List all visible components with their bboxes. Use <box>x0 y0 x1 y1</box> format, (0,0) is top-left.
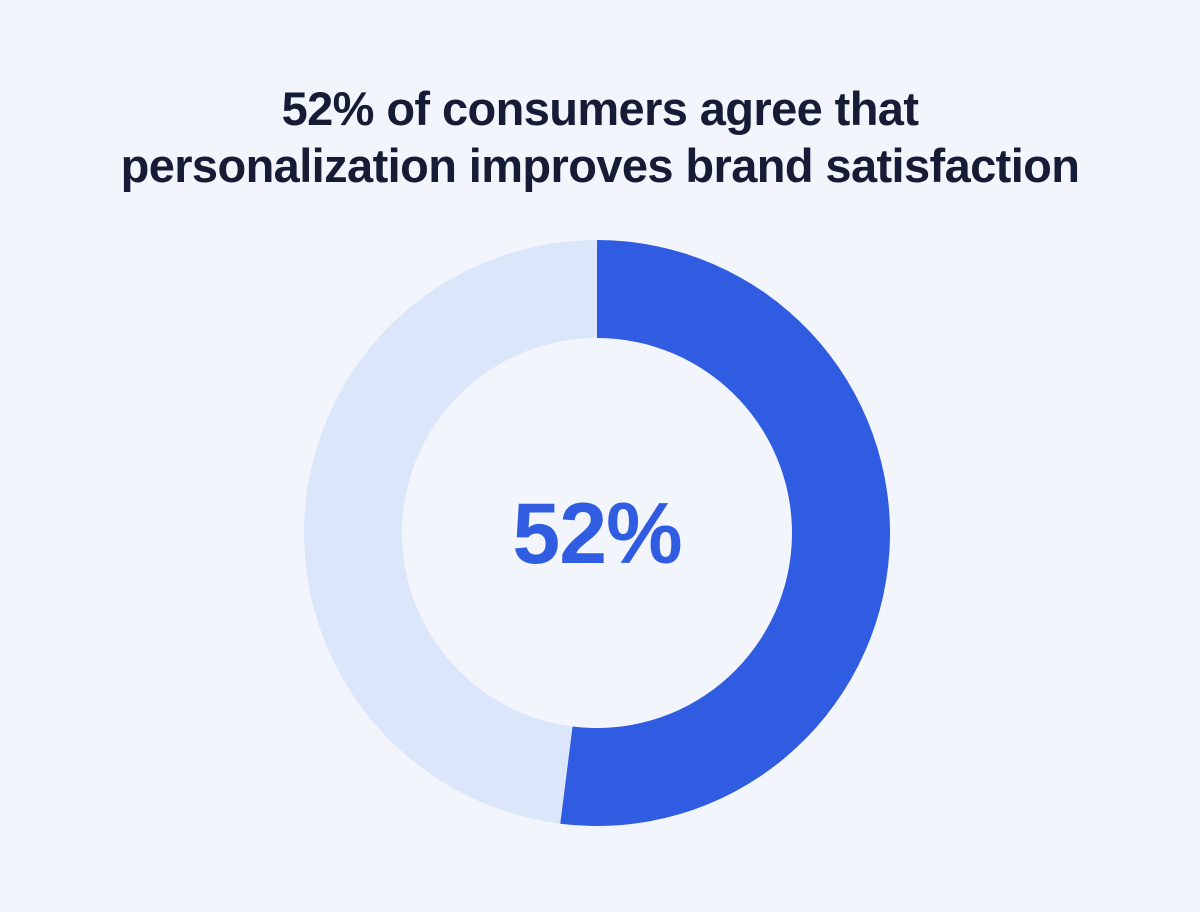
donut-segment-remainder <box>304 240 597 824</box>
donut-chart-infographic: 52% of consumers agree that personalizat… <box>0 0 1200 912</box>
donut-segment-value <box>560 240 890 826</box>
chart-title-line-2: personalization improves brand satisfact… <box>0 137 1200 194</box>
chart-title: 52% of consumers agree that personalizat… <box>0 80 1200 194</box>
donut-chart: 52% <box>304 240 890 826</box>
donut-chart-svg <box>304 240 890 826</box>
chart-title-line-1: 52% of consumers agree that <box>0 80 1200 137</box>
